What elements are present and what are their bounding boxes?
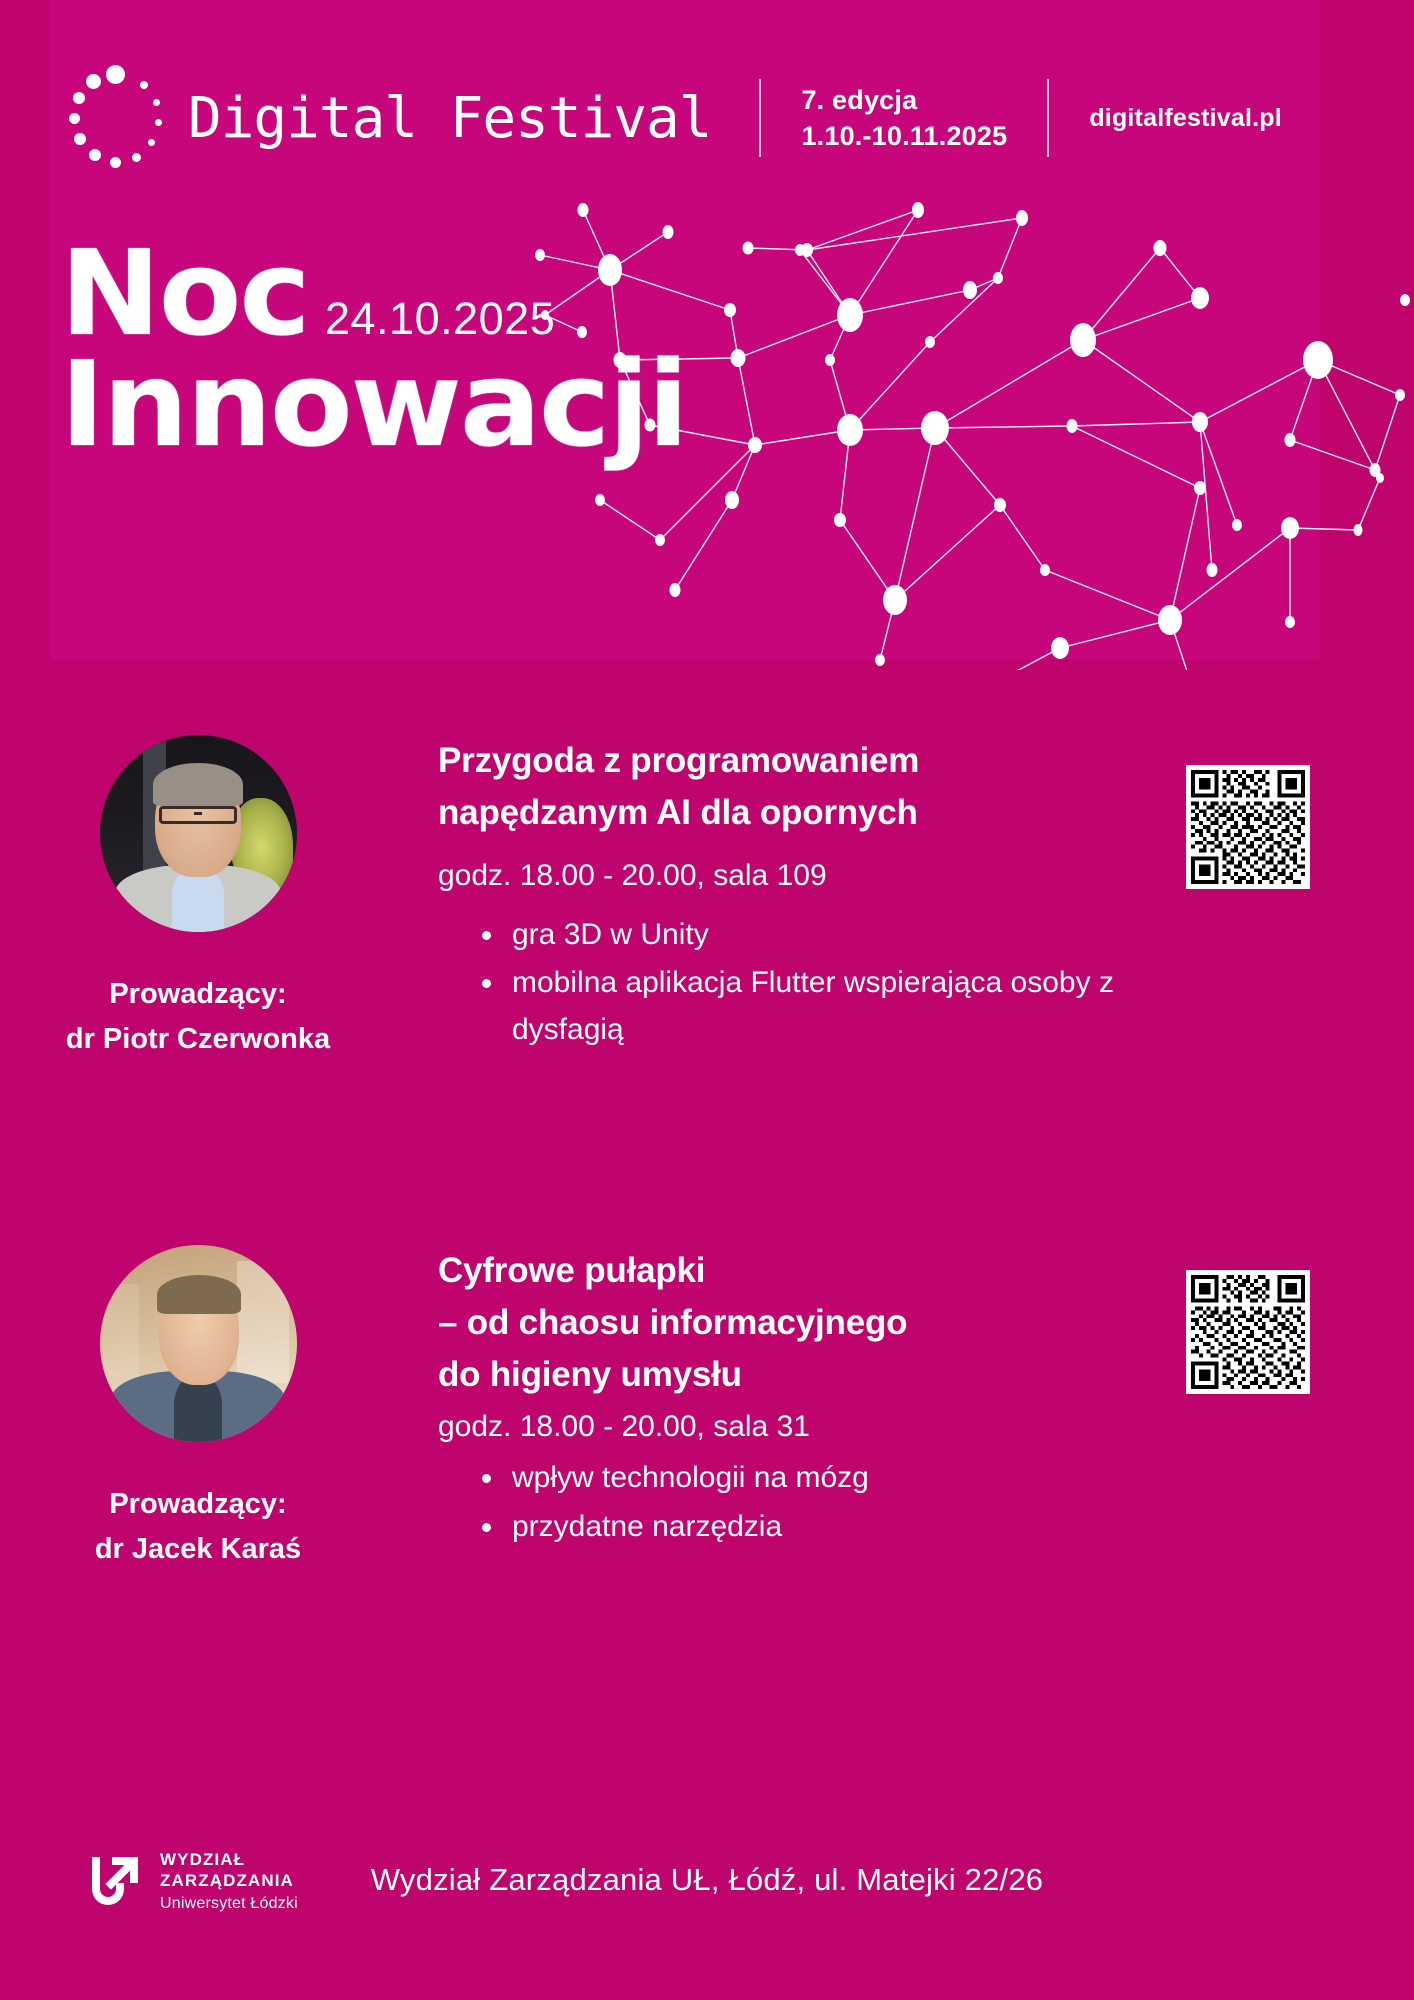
poster-root: Digital Festival 7. edycja 1.10.-10.11.2… bbox=[0, 0, 1414, 2000]
festival-edition-dates: 7. edycja 1.10.-10.11.2025 bbox=[761, 82, 1047, 155]
page-title: Noc Innowacji bbox=[60, 238, 674, 460]
list-item: gra 3D w Unity bbox=[478, 912, 1148, 959]
speaker-name: dr Jacek Karaś bbox=[38, 1527, 358, 1572]
speaker-column: Prowadzący: dr Piotr Czerwonka bbox=[38, 735, 358, 1062]
avatar bbox=[100, 1245, 297, 1442]
session-title-line: Przygoda z programowaniem bbox=[438, 735, 1148, 787]
speaker-role-label: Prowadzący: bbox=[38, 1482, 358, 1527]
festival-website-link[interactable]: digitalfestival.pl bbox=[1049, 104, 1282, 133]
session-time-room: godz. 18.00 - 20.00, sala 31 bbox=[438, 1404, 1148, 1449]
session-title-line: Cyfrowe pułapki bbox=[438, 1245, 1148, 1297]
speaker-role-label: Prowadzący: bbox=[38, 972, 358, 1017]
title-line-2: Innowacji bbox=[60, 349, 687, 460]
session-title-line: napędzanym AI dla opornych bbox=[438, 787, 1148, 839]
list-item: wpływ technologii na mózg bbox=[478, 1455, 1148, 1502]
footer: WYDZIAŁ ZARZĄDZANIA Uniwersytet Łódzki W… bbox=[0, 1840, 1414, 1960]
session-title: Przygoda z programowaniem napędzanym AI … bbox=[438, 735, 1148, 839]
festival-header-bar: Digital Festival 7. edycja 1.10.-10.11.2… bbox=[50, 18, 1270, 218]
speaker-column: Prowadzący: dr Jacek Karaś bbox=[38, 1245, 358, 1572]
edition-line-1: 7. edycja bbox=[801, 82, 1007, 118]
session-content: Przygoda z programowaniem napędzanym AI … bbox=[438, 735, 1148, 1055]
session-content: Cyfrowe pułapki – od chaosu informacyjne… bbox=[438, 1245, 1148, 1552]
event-date: 24.10.2025 bbox=[325, 293, 555, 345]
qr-code-session-1[interactable] bbox=[1186, 765, 1310, 889]
session-title-line: – od chaosu informacyjnego bbox=[438, 1297, 1148, 1349]
festival-wordmark: Digital Festival bbox=[188, 86, 711, 151]
speaker-name: dr Piotr Czerwonka bbox=[38, 1017, 358, 1062]
session-topics-list: wpływ technologii na mózg przydatne narz… bbox=[438, 1455, 1148, 1550]
session-title: Cyfrowe pułapki – od chaosu informacyjne… bbox=[438, 1245, 1148, 1400]
avatar bbox=[100, 735, 297, 932]
edition-line-2: 1.10.-10.11.2025 bbox=[801, 118, 1007, 154]
list-item: mobilna aplikacja Flutter wspierająca os… bbox=[478, 960, 1148, 1053]
session-topics-list: gra 3D w Unity mobilna aplikacja Flutter… bbox=[438, 912, 1148, 1054]
session-title-line: do higieny umysłu bbox=[438, 1349, 1148, 1401]
digital-festival-dot-circle-logo bbox=[68, 65, 174, 171]
session-time-room: godz. 18.00 - 20.00, sala 109 bbox=[438, 853, 1148, 898]
venue-address: Wydział Zarządzania UŁ, Łódź, ul. Matejk… bbox=[0, 1862, 1414, 1898]
list-item: przydatne narzędzia bbox=[478, 1504, 1148, 1551]
qr-code-session-2[interactable] bbox=[1186, 1270, 1310, 1394]
